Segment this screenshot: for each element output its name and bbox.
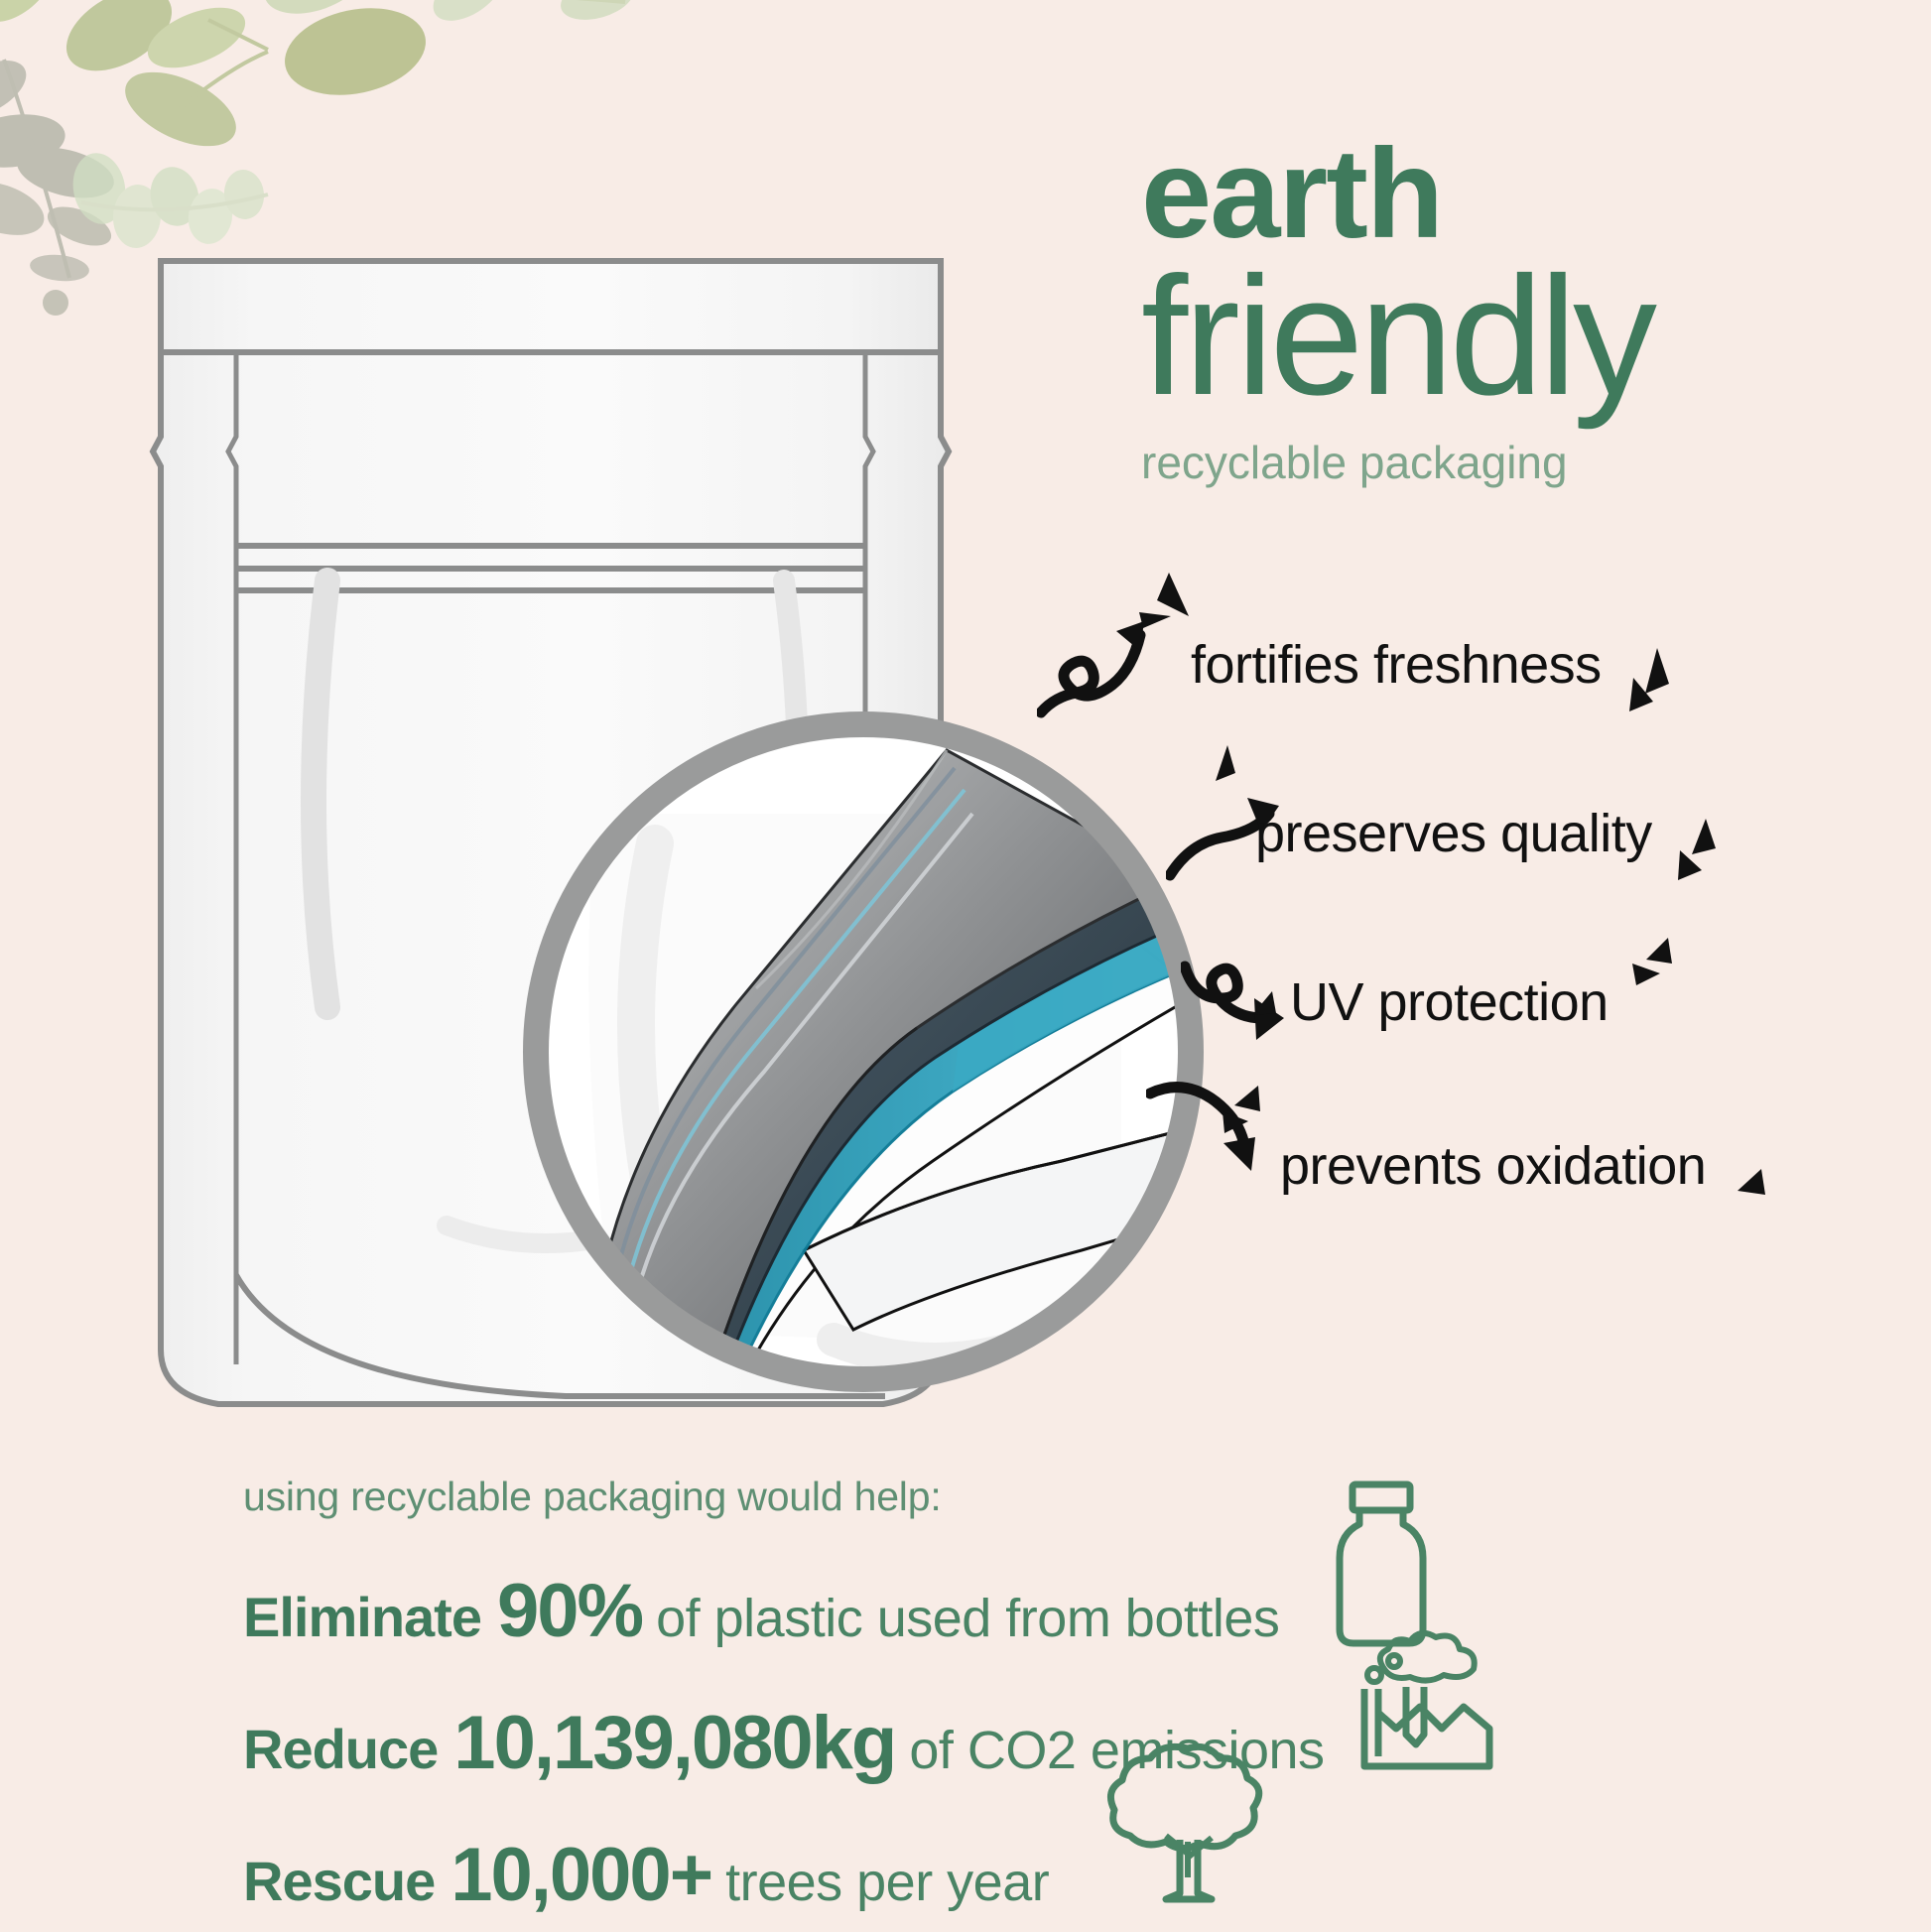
headline-block: earth friendly recyclable packaging (1141, 134, 1895, 489)
stat-verb: Rescue (243, 1849, 435, 1913)
stat-value: 10,000+ (451, 1832, 711, 1918)
feature-callout-prevents-oxidation: prevents oxidation (1280, 1131, 1706, 1201)
factory-icon (1345, 1617, 1503, 1776)
sparkle-icon (1215, 1080, 1274, 1143)
stat-verb: Reduce (243, 1717, 438, 1781)
sparkle-icon (1198, 741, 1249, 797)
feature-label: fortifies freshness (1191, 634, 1602, 696)
stat-verb: Eliminate (243, 1585, 481, 1649)
stats-intro-text: using recyclable packaging would help: (243, 1474, 1682, 1520)
feature-callout-fortifies-freshness: fortifies freshness (1191, 630, 1602, 700)
feature-callout-uv-protection: UV protection (1290, 967, 1609, 1037)
stat-value: 10,139,080kg (453, 1700, 895, 1786)
stat-tail: of plastic used from bottles (656, 1588, 1279, 1649)
sparkle-icon (1620, 934, 1682, 999)
tree-icon (1096, 1739, 1280, 1912)
botanical-leaves-top-center (248, 0, 665, 139)
infographic-canvas: earth friendly recyclable packaging fort… (0, 0, 1931, 1932)
stat-value: 90% (497, 1568, 642, 1654)
feature-label: preserves quality (1255, 803, 1652, 864)
stat-row: Rescue 10,000+ trees per year (243, 1832, 1682, 1918)
page-title-line-1: earth (1141, 134, 1895, 255)
feature-label: UV protection (1290, 971, 1609, 1033)
stat-tail: trees per year (725, 1852, 1049, 1913)
page-subtitle: recyclable packaging (1141, 436, 1895, 489)
sparkle-icon (1611, 644, 1677, 717)
feature-callout-preserves-quality: preserves quality (1255, 799, 1652, 868)
sparkle-icon (1131, 569, 1201, 638)
feature-label: prevents oxidation (1280, 1135, 1706, 1197)
sparkle-icon (1722, 1161, 1779, 1223)
magnifier-circle (506, 695, 1221, 1409)
page-title-line-2: friendly (1141, 259, 1895, 414)
sparkle-icon (1242, 985, 1286, 1035)
sparkle-icon (1662, 817, 1724, 888)
